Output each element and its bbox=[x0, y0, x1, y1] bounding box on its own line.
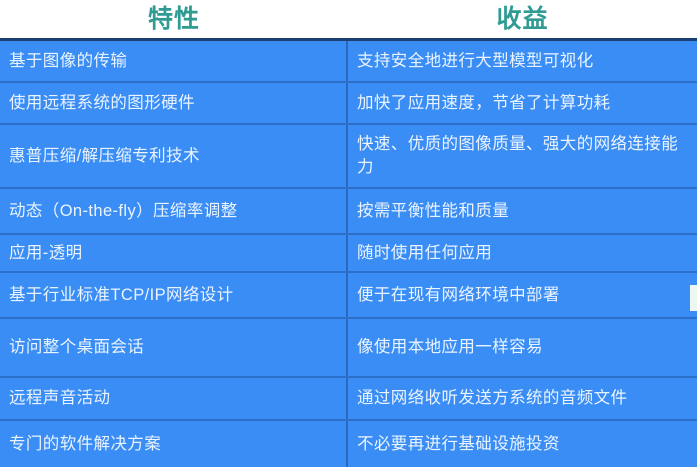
table-row: 基于图像的传输 支持安全地进行大型模型可视化 bbox=[0, 41, 697, 83]
header-cell-benefit: 收益 bbox=[348, 0, 697, 38]
cell-feature-text: 基于行业标准TCP/IP网络设计 bbox=[9, 284, 234, 307]
cell-benefit: 随时使用任何应用 bbox=[348, 235, 697, 271]
cell-benefit-text: 快速、优质的图像质量、强大的网络连接能力 bbox=[357, 133, 687, 179]
cell-benefit-text: 通过网络收听发送方系统的音频文件 bbox=[357, 387, 627, 410]
cell-feature: 动态（On-the-fly）压缩率调整 bbox=[0, 189, 348, 233]
cell-feature: 惠普压缩/解压缩专利技术 bbox=[0, 125, 348, 187]
feature-benefit-table-slide: 特性 收益 基于图像的传输 支持安全地进行大型模型可视化 使用远程系统的图形硬件… bbox=[0, 0, 697, 467]
table-row: 基于行业标准TCP/IP网络设计 便于在现有网络环境中部署 bbox=[0, 273, 697, 319]
cell-feature-text: 动态（On-the-fly）压缩率调整 bbox=[9, 200, 238, 223]
cell-benefit-text: 像使用本地应用一样容易 bbox=[357, 336, 543, 359]
cell-feature: 专门的软件解决方案 bbox=[0, 421, 348, 467]
table-row: 动态（On-the-fly）压缩率调整 按需平衡性能和质量 bbox=[0, 189, 697, 235]
cell-feature-text: 应用-透明 bbox=[9, 242, 83, 265]
cell-feature-text: 专门的软件解决方案 bbox=[9, 433, 161, 456]
cell-feature-text: 访问整个桌面会话 bbox=[9, 336, 144, 359]
cell-feature-text: 远程声音活动 bbox=[9, 387, 110, 410]
cell-feature-text: 使用远程系统的图形硬件 bbox=[9, 92, 195, 115]
cell-benefit-text: 便于在现有网络环境中部署 bbox=[357, 284, 560, 307]
right-edge-artifact bbox=[690, 285, 697, 311]
header-cell-feature: 特性 bbox=[0, 0, 348, 38]
table-row: 惠普压缩/解压缩专利技术 快速、优质的图像质量、强大的网络连接能力 bbox=[0, 125, 697, 189]
table-body: 基于图像的传输 支持安全地进行大型模型可视化 使用远程系统的图形硬件 加快了应用… bbox=[0, 38, 697, 467]
cell-benefit: 快速、优质的图像质量、强大的网络连接能力 bbox=[348, 125, 697, 187]
cell-feature: 访问整个桌面会话 bbox=[0, 319, 348, 376]
cell-feature: 远程声音活动 bbox=[0, 378, 348, 419]
cell-benefit-text: 加快了应用速度，节省了计算功耗 bbox=[357, 92, 611, 115]
cell-benefit-text: 按需平衡性能和质量 bbox=[357, 200, 509, 223]
table-row: 远程声音活动 通过网络收听发送方系统的音频文件 bbox=[0, 378, 697, 421]
header-title-benefit: 收益 bbox=[496, 4, 548, 34]
cell-feature: 基于图像的传输 bbox=[0, 41, 348, 81]
cell-benefit-text: 支持安全地进行大型模型可视化 bbox=[357, 50, 594, 73]
cell-benefit: 按需平衡性能和质量 bbox=[348, 189, 697, 233]
cell-benefit-text: 随时使用任何应用 bbox=[357, 242, 492, 265]
table-row: 使用远程系统的图形硬件 加快了应用速度，节省了计算功耗 bbox=[0, 83, 697, 125]
cell-benefit-text: 不必要再进行基础设施投资 bbox=[357, 433, 560, 456]
table-header: 特性 收益 bbox=[0, 0, 697, 38]
table-row: 访问整个桌面会话 像使用本地应用一样容易 bbox=[0, 319, 697, 378]
cell-benefit: 不必要再进行基础设施投资 bbox=[348, 421, 697, 467]
cell-benefit: 支持安全地进行大型模型可视化 bbox=[348, 41, 697, 81]
cell-feature-text: 基于图像的传输 bbox=[9, 50, 127, 73]
cell-feature: 应用-透明 bbox=[0, 235, 348, 271]
table-row: 专门的软件解决方案 不必要再进行基础设施投资 bbox=[0, 421, 697, 467]
cell-feature: 使用远程系统的图形硬件 bbox=[0, 83, 348, 123]
cell-benefit: 加快了应用速度，节省了计算功耗 bbox=[348, 83, 697, 123]
cell-benefit: 便于在现有网络环境中部署 bbox=[348, 273, 697, 317]
cell-benefit: 像使用本地应用一样容易 bbox=[348, 319, 697, 376]
cell-feature-text: 惠普压缩/解压缩专利技术 bbox=[9, 145, 200, 168]
header-title-feature: 特性 bbox=[148, 4, 200, 34]
cell-feature: 基于行业标准TCP/IP网络设计 bbox=[0, 273, 348, 317]
cell-benefit: 通过网络收听发送方系统的音频文件 bbox=[348, 378, 697, 419]
table-row: 应用-透明 随时使用任何应用 bbox=[0, 235, 697, 273]
